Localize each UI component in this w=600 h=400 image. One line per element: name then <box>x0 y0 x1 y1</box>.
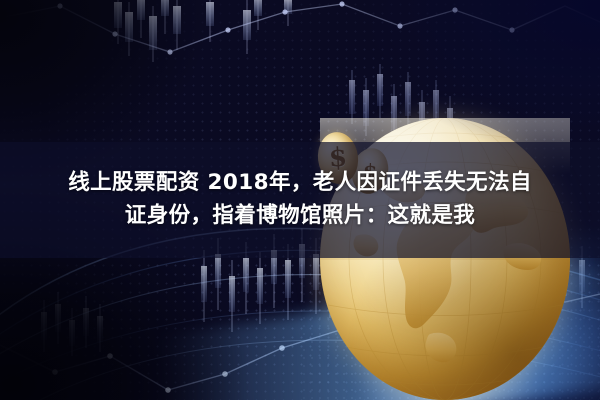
banner-image: $ $ 线上股票配资 2018年，老人因证件丢失无法自 证身份，指着博物馆照片：… <box>0 0 600 400</box>
headline-line-2: 证身份，指着博物馆照片：这就是我 <box>125 201 475 232</box>
headline-line-1: 线上股票配资 2018年，老人因证件丢失无法自 <box>68 168 532 199</box>
headline-text: 线上股票配资 2018年，老人因证件丢失无法自 证身份，指着博物馆照片：这就是我 <box>0 142 600 258</box>
